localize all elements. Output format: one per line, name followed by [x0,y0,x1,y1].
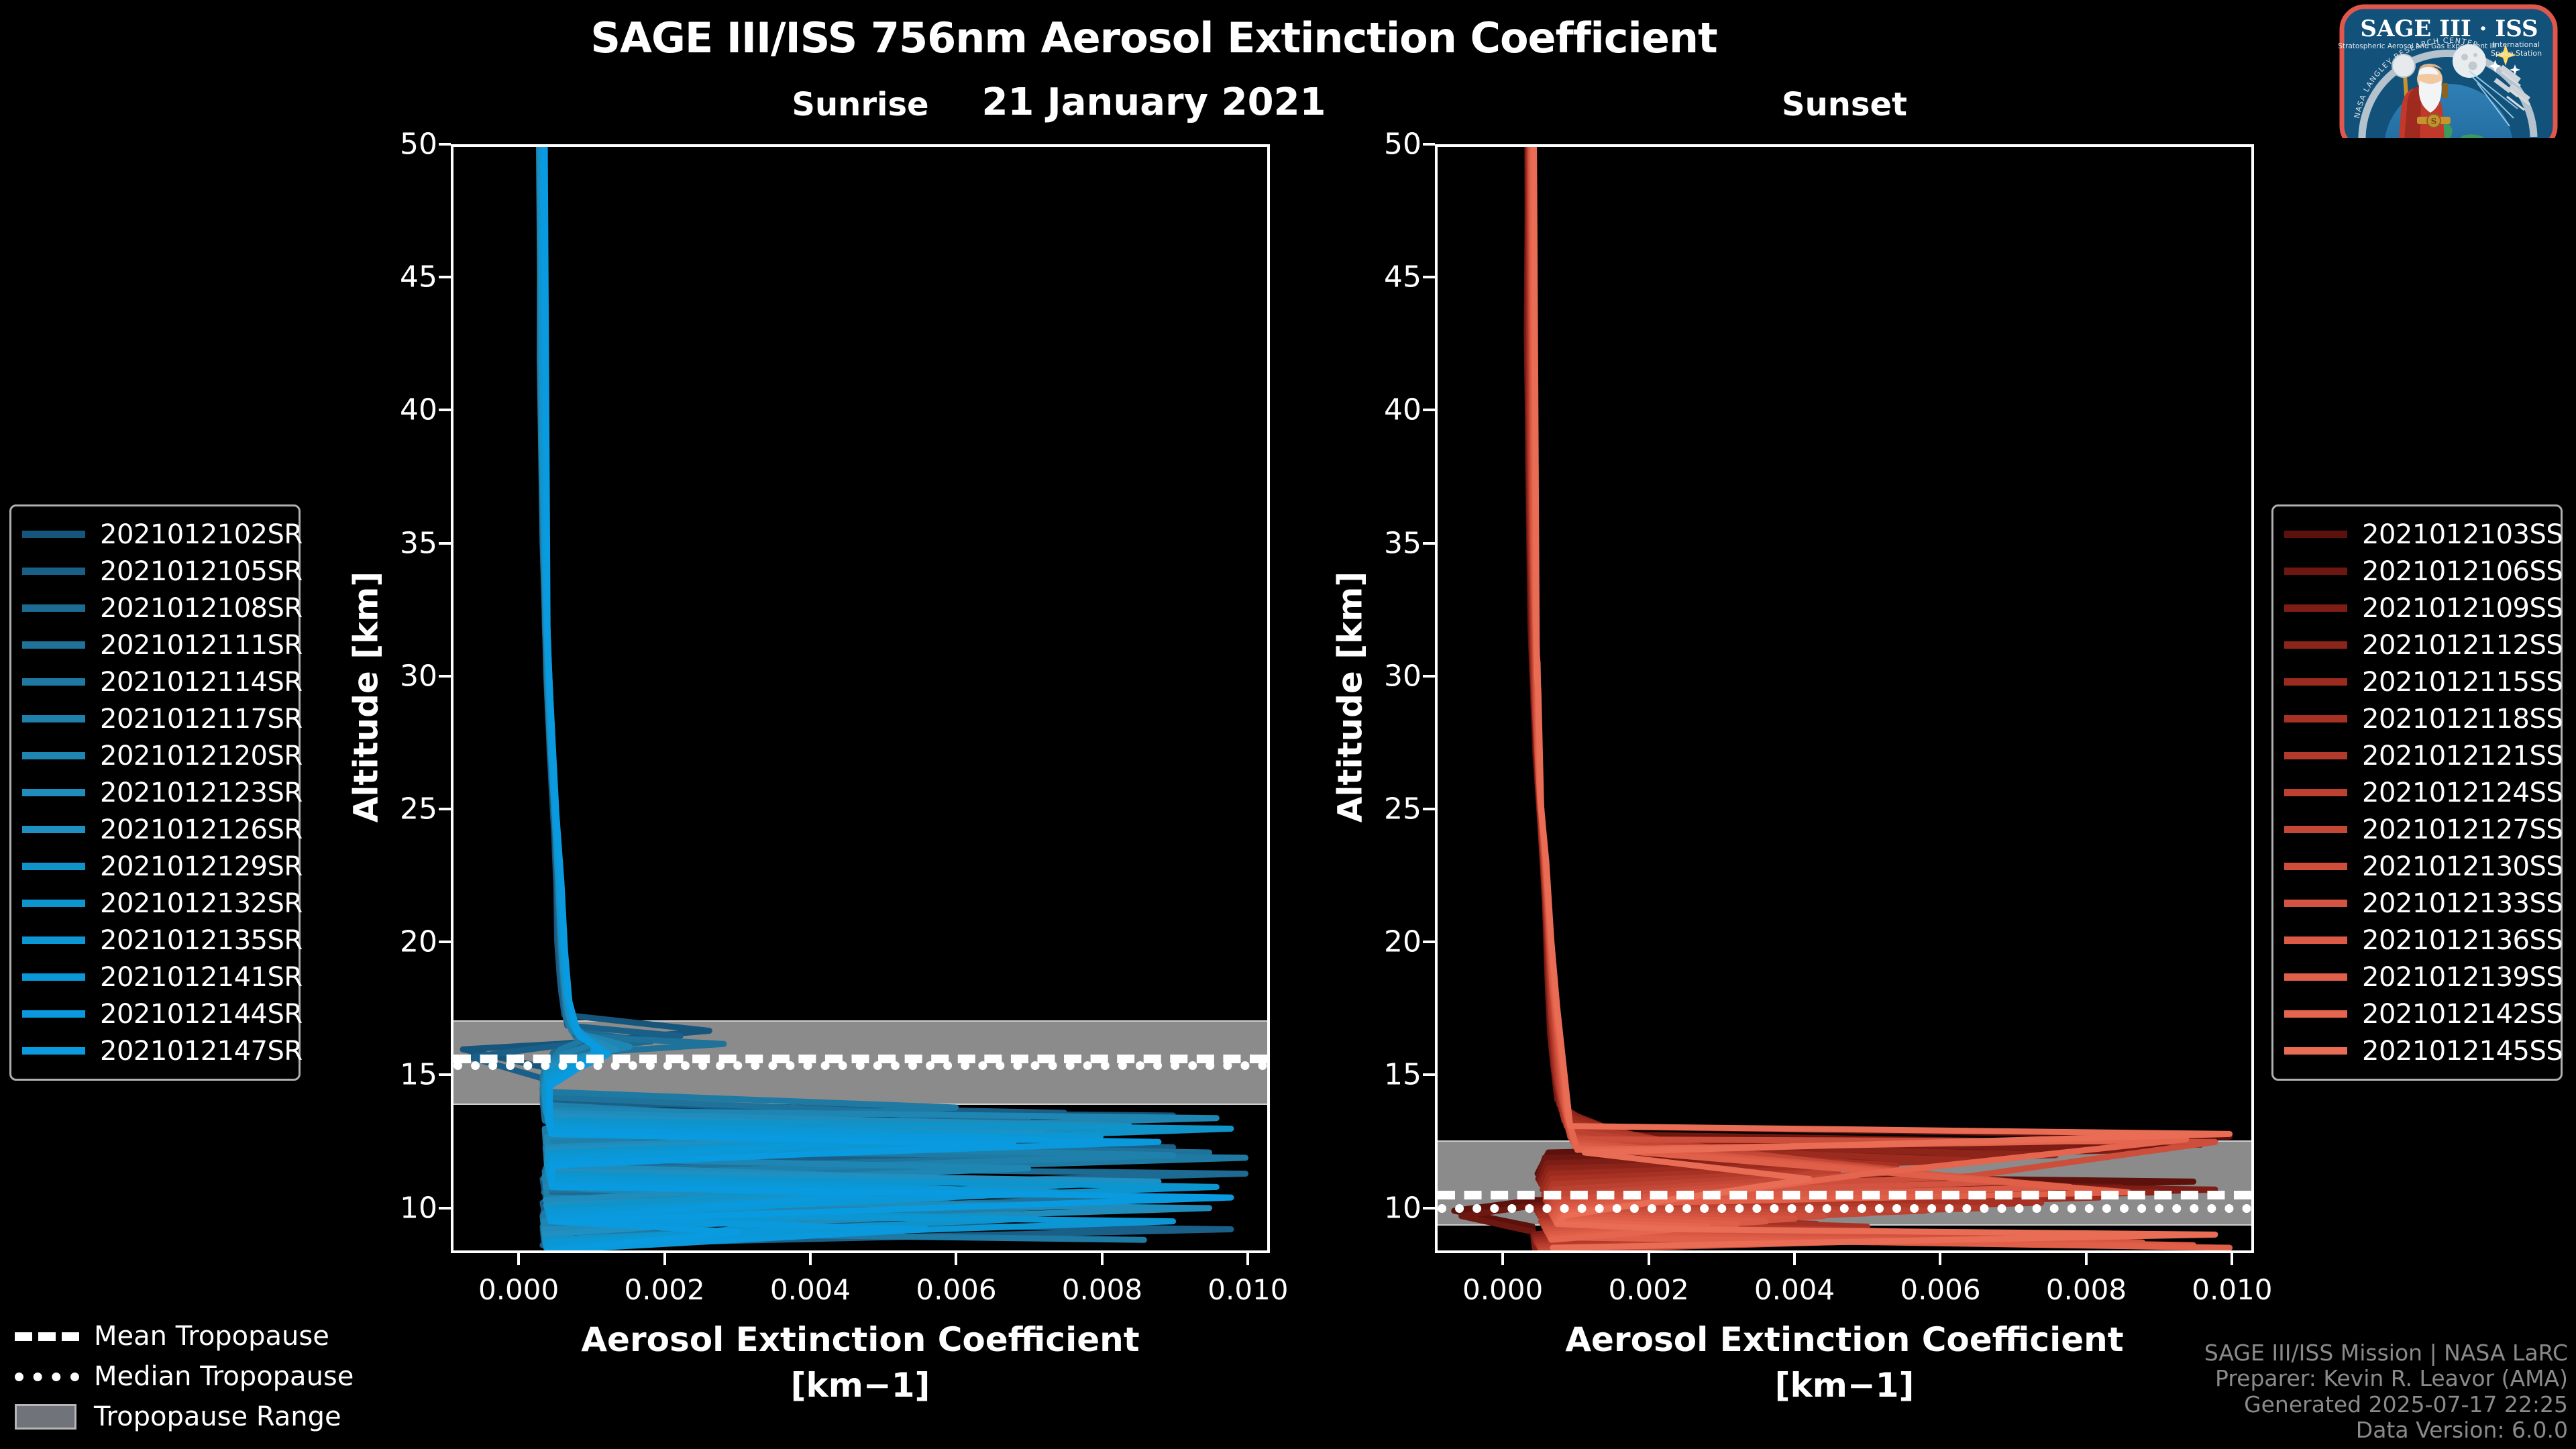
legend-series-label: 2021012108SR [100,593,303,624]
series-line [540,147,1210,1237]
sunset-x-tick-mark [2231,1253,2233,1265]
legend-item-2021012129sr[interactable]: 2021012129SR [22,848,288,885]
legend-item-2021012117sr[interactable]: 2021012117SR [22,700,288,737]
legend-color-swatch [2284,531,2347,538]
series-line [539,147,1173,1245]
legend-series-label: 2021012129SR [100,851,303,882]
sunset-x-tick-mark [1939,1253,1941,1265]
legend-item-2021012141sr[interactable]: 2021012141SR [22,959,288,996]
legend-item-2021012105sr[interactable]: 2021012105SR [22,553,288,590]
legend-series-label: 2021012114SR [100,667,303,698]
series-line [1530,147,2012,1250]
legend-color-swatch [22,1047,85,1055]
legend-color-swatch [2284,678,2347,686]
legend-item-2021012124ss[interactable]: 2021012124SS [2284,774,2550,811]
legend-series-label: 2021012144SR [100,999,303,1030]
svg-text:International: International [2493,40,2540,49]
legend-series-label: 2021012123SR [100,777,303,808]
legend-item-2021012114sr[interactable]: 2021012114SR [22,663,288,700]
legend-series-label: 2021012127SS [2362,814,2563,845]
legend-color-swatch [2284,1047,2347,1055]
svg-text:Stratospheric Aerosol and Gas: Stratospheric Aerosol and Gas Experiment… [2338,42,2496,50]
legend-color-swatch [2284,752,2347,759]
legend-series-label: 2021012147SR [100,1036,303,1067]
credits-line-preparer: Preparer: Kevin R. Leavor (AMA) [2204,1366,2568,1392]
legend-item-2021012103ss[interactable]: 2021012103SS [2284,516,2550,553]
legend-item-2021012123sr[interactable]: 2021012123SR [22,774,288,811]
sunset-plot-area [1435,144,2254,1253]
legend-series-label: 2021012124SS [2362,777,2563,808]
legend-item-2021012133ss[interactable]: 2021012133SS [2284,885,2550,922]
legend-color-swatch [22,641,85,649]
tropopause-legend: Mean Tropopause Median Tropopause Tropop… [15,1316,390,1437]
series-line [542,147,1217,1242]
legend-item-2021012115ss[interactable]: 2021012115SS [2284,663,2550,700]
legend-series-label: 2021012142SS [2362,999,2563,1030]
sunset-y-tick-mark [1423,1207,1435,1210]
legend-series-label: 2021012132SR [100,888,303,919]
sunrise-series-lines [453,147,1267,1250]
legend-series-label: 2021012111SR [100,630,303,661]
legend-item-tropopause-range: Tropopause Range [15,1397,390,1437]
series-line [1531,147,1954,1248]
legend-color-swatch [22,789,85,796]
legend-color-swatch [2284,936,2347,944]
sunset-series-legend[interactable]: 2021012103SS2021012106SS2021012109SS2021… [2271,504,2563,1081]
series-line [1529,147,1983,1245]
series-line [1534,147,2186,1240]
sunrise-x-tick-mark [955,1253,957,1265]
sunrise-x-tick-label: 0.010 [1207,1273,1288,1306]
series-line [544,147,1057,1248]
legend-item-2021012111sr[interactable]: 2021012111SR [22,627,288,663]
sunset-x-tick-label: 0.002 [1608,1273,1688,1306]
series-line [463,147,1173,1242]
legend-series-label: 2021012105SR [100,556,303,587]
sunset-y-tick-mark [1423,276,1435,278]
tropopause-range-label: Tropopause Range [94,1401,341,1432]
sunset-x-tick-mark [2085,1253,2088,1265]
sunrise-plot-area [451,144,1270,1253]
sunrise-x-tick-label: 0.008 [1062,1273,1142,1306]
legend-item-2021012102sr[interactable]: 2021012102SR [22,516,288,553]
sunset-mean-tropopause-line [1438,1191,2251,1199]
legend-color-swatch [22,900,85,907]
legend-color-swatch [22,715,85,722]
mission-patch-icon: S NASA LANGLEY RESEARCH CENTER SAGE III … [2338,4,2559,138]
sunset-y-tick-mark [1423,143,1435,146]
median-tropopause-label: Median Tropopause [94,1361,354,1392]
legend-item-2021012127ss[interactable]: 2021012127SS [2284,811,2550,848]
legend-series-label: 2021012120SR [100,741,303,771]
sunset-series-lines [1438,147,2251,1250]
sunrise-y-tick-mark [439,143,451,146]
series-line [470,147,1231,1245]
legend-item-2021012130ss[interactable]: 2021012130SS [2284,848,2550,885]
series-line [1534,147,2230,1248]
series-line [1531,147,2143,1242]
legend-color-swatch [22,678,85,686]
legend-color-swatch [22,936,85,944]
series-line [1529,147,2157,1237]
legend-item-2021012118ss[interactable]: 2021012118SS [2284,700,2550,737]
sunrise-panel-title: Sunrise [451,86,1270,123]
legend-series-label: 2021012109SS [2362,593,2563,624]
sunset-y-tick-mark [1423,1073,1435,1076]
series-line [1532,147,2229,1248]
sunrise-x-tick-mark [517,1253,520,1265]
legend-color-swatch [2284,1010,2347,1018]
legend-color-swatch [2284,715,2347,722]
sunrise-y-tick-mark [439,675,451,678]
legend-series-label: 2021012115SS [2362,667,2563,698]
legend-series-label: 2021012103SS [2362,519,2563,550]
legend-color-swatch [22,863,85,870]
legend-item-2021012108sr[interactable]: 2021012108SR [22,590,288,627]
sunrise-median-tropopause-line [453,1061,1267,1070]
sunrise-series-legend[interactable]: 2021012102SR2021012105SR2021012108SR2021… [9,504,301,1081]
legend-item-mean-tropopause: Mean Tropopause [15,1316,390,1356]
series-line [541,147,1159,1234]
svg-text:Space Station: Space Station [2491,49,2542,58]
legend-series-label: 2021012106SS [2362,556,2563,587]
legend-color-swatch [2284,641,2347,649]
mean-tropopause-label: Mean Tropopause [94,1321,329,1352]
series-line [541,147,1246,1240]
sunrise-y-tick-mark [439,542,451,545]
legend-color-swatch [2284,973,2347,981]
sunset-x-tick-mark [1793,1253,1796,1265]
legend-item-2021012144sr[interactable]: 2021012144SR [22,996,288,1032]
sunrise-x-tick-label: 0.002 [624,1273,704,1306]
legend-item-2021012120sr[interactable]: 2021012120SR [22,737,288,774]
sunset-x-tick-label: 0.010 [2192,1273,2272,1306]
sunrise-y-tick-mark [439,1207,451,1210]
legend-item-2021012132sr[interactable]: 2021012132SR [22,885,288,922]
legend-series-label: 2021012133SS [2362,888,2563,919]
filled-band-icon [15,1404,79,1430]
credits-line-mission: SAGE III/ISS Mission | NASA LaRC [2204,1340,2568,1366]
dotted-line-icon [15,1373,79,1381]
series-line [1454,147,2230,1242]
sunset-panel-title: Sunset [1435,86,2254,123]
credits-line-generated: Generated 2025-07-17 22:25 [2204,1392,2568,1418]
sunrise-y-tick-mark [439,276,451,278]
svg-text:SAGE III · ISS: SAGE III · ISS [2360,15,2538,42]
series-line [543,147,1231,1240]
legend-color-swatch [22,531,85,538]
legend-series-label: 2021012135SR [100,925,303,956]
sunrise-y-tick-mark [439,1073,451,1076]
sunset-x-tick-label: 0.006 [1900,1273,1980,1306]
sunset-y-tick-mark [1423,409,1435,411]
legend-series-label: 2021012118SS [2362,704,2563,735]
legend-item-median-tropopause: Median Tropopause [15,1356,390,1397]
sunrise-y-tick-mark [439,941,451,943]
credits-line-version: Data Version: 6.0.0 [2204,1417,2568,1444]
sunrise-x-tick-label: 0.004 [770,1273,851,1306]
sunset-median-tropopause-line [1438,1204,2251,1213]
series-line [540,147,1246,1242]
legend-series-label: 2021012121SS [2362,741,2563,771]
legend-item-2021012121ss[interactable]: 2021012121SS [2284,737,2550,774]
legend-color-swatch [22,752,85,759]
legend-color-swatch [2284,863,2347,870]
legend-color-swatch [22,568,85,575]
sunset-x-axis-title: Aerosol Extinction Coefficient [1435,1320,2254,1359]
legend-series-label: 2021012130SS [2362,851,2563,882]
series-line [1529,147,2099,1240]
sunrise-x-axis-unit: [km−1] [451,1366,1270,1405]
sage-iii-iss-logo: S NASA LANGLEY RESEARCH CENTER SAGE III … [2338,4,2559,138]
credits-block: SAGE III/ISS Mission | NASA LaRC Prepare… [2204,1340,2568,1444]
page-title: SAGE III/ISS 756nm Aerosol Extinction Co… [0,13,2308,62]
legend-series-label: 2021012112SS [2362,630,2563,661]
sunrise-x-tick-label: 0.000 [478,1273,559,1306]
sunrise-x-tick-mark [1101,1253,1104,1265]
legend-item-2021012112ss[interactable]: 2021012112SS [2284,627,2550,663]
series-line [1527,147,2215,1250]
series-line [543,147,1159,1250]
series-line [542,147,1217,1245]
legend-item-2021012109ss[interactable]: 2021012109SS [2284,590,2550,627]
sunrise-x-tick-label: 0.006 [916,1273,996,1306]
legend-item-2021012106ss[interactable]: 2021012106SS [2284,553,2550,590]
legend-series-label: 2021012136SS [2362,925,2563,956]
series-line [1532,147,2193,1245]
legend-series-label: 2021012139SS [2362,962,2563,993]
legend-item-2021012147sr[interactable]: 2021012147SR [22,1032,288,1069]
legend-series-label: 2021012141SR [100,962,303,993]
series-line [1462,147,2201,1248]
sunset-x-tick-mark [1501,1253,1504,1265]
series-line [541,147,1210,1248]
series-line [545,147,1231,1250]
legend-series-label: 2021012102SR [100,519,303,550]
sunrise-x-tick-mark [663,1253,666,1265]
legend-color-swatch [22,973,85,981]
legend-color-swatch [2284,900,2347,907]
legend-color-swatch [2284,604,2347,612]
sunrise-x-axis-title: Aerosol Extinction Coefficient [451,1320,1270,1359]
sunset-x-axis-unit: [km−1] [1435,1366,2254,1405]
svg-text:S: S [2431,117,2437,126]
legend-color-swatch [22,826,85,833]
series-line [543,147,1173,1242]
legend-item-2021012139ss[interactable]: 2021012139SS [2284,959,2550,996]
sunset-y-tick-mark [1423,675,1435,678]
legend-item-2021012126sr[interactable]: 2021012126SR [22,811,288,848]
sunset-y-tick-mark [1423,941,1435,943]
sunset-y-tick-mark [1423,808,1435,810]
legend-item-2021012145ss[interactable]: 2021012145SS [2284,1032,2550,1069]
sunset-x-tick-label: 0.008 [2046,1273,2127,1306]
dashed-line-icon [15,1332,79,1341]
legend-color-swatch [22,604,85,612]
sunrise-y-tick-mark [439,409,451,411]
sunrise-x-tick-mark [1246,1253,1249,1265]
sunset-x-tick-label: 0.004 [1754,1273,1835,1306]
series-line [1532,147,2215,1240]
sunset-y-tick-mark [1423,542,1435,545]
legend-series-label: 2021012126SR [100,814,303,845]
legend-color-swatch [2284,826,2347,833]
sunrise-y-axis-title: Altitude [km] [346,142,385,1251]
sunrise-y-tick-mark [439,808,451,810]
sunset-x-tick-label: 0.000 [1462,1273,1543,1306]
legend-color-swatch [22,1010,85,1018]
sunset-x-tick-mark [1648,1253,1650,1265]
legend-color-swatch [2284,789,2347,796]
series-line [1530,147,2041,1242]
legend-item-2021012142ss[interactable]: 2021012142SS [2284,996,2550,1032]
sunrise-x-tick-mark [809,1253,812,1265]
sunset-y-axis-title: Altitude [km] [1330,142,1369,1251]
legend-item-2021012135sr[interactable]: 2021012135SR [22,922,288,959]
legend-series-label: 2021012117SR [100,704,303,735]
legend-color-swatch [2284,568,2347,575]
legend-item-2021012136ss[interactable]: 2021012136SS [2284,922,2550,959]
legend-series-label: 2021012145SS [2362,1036,2563,1067]
